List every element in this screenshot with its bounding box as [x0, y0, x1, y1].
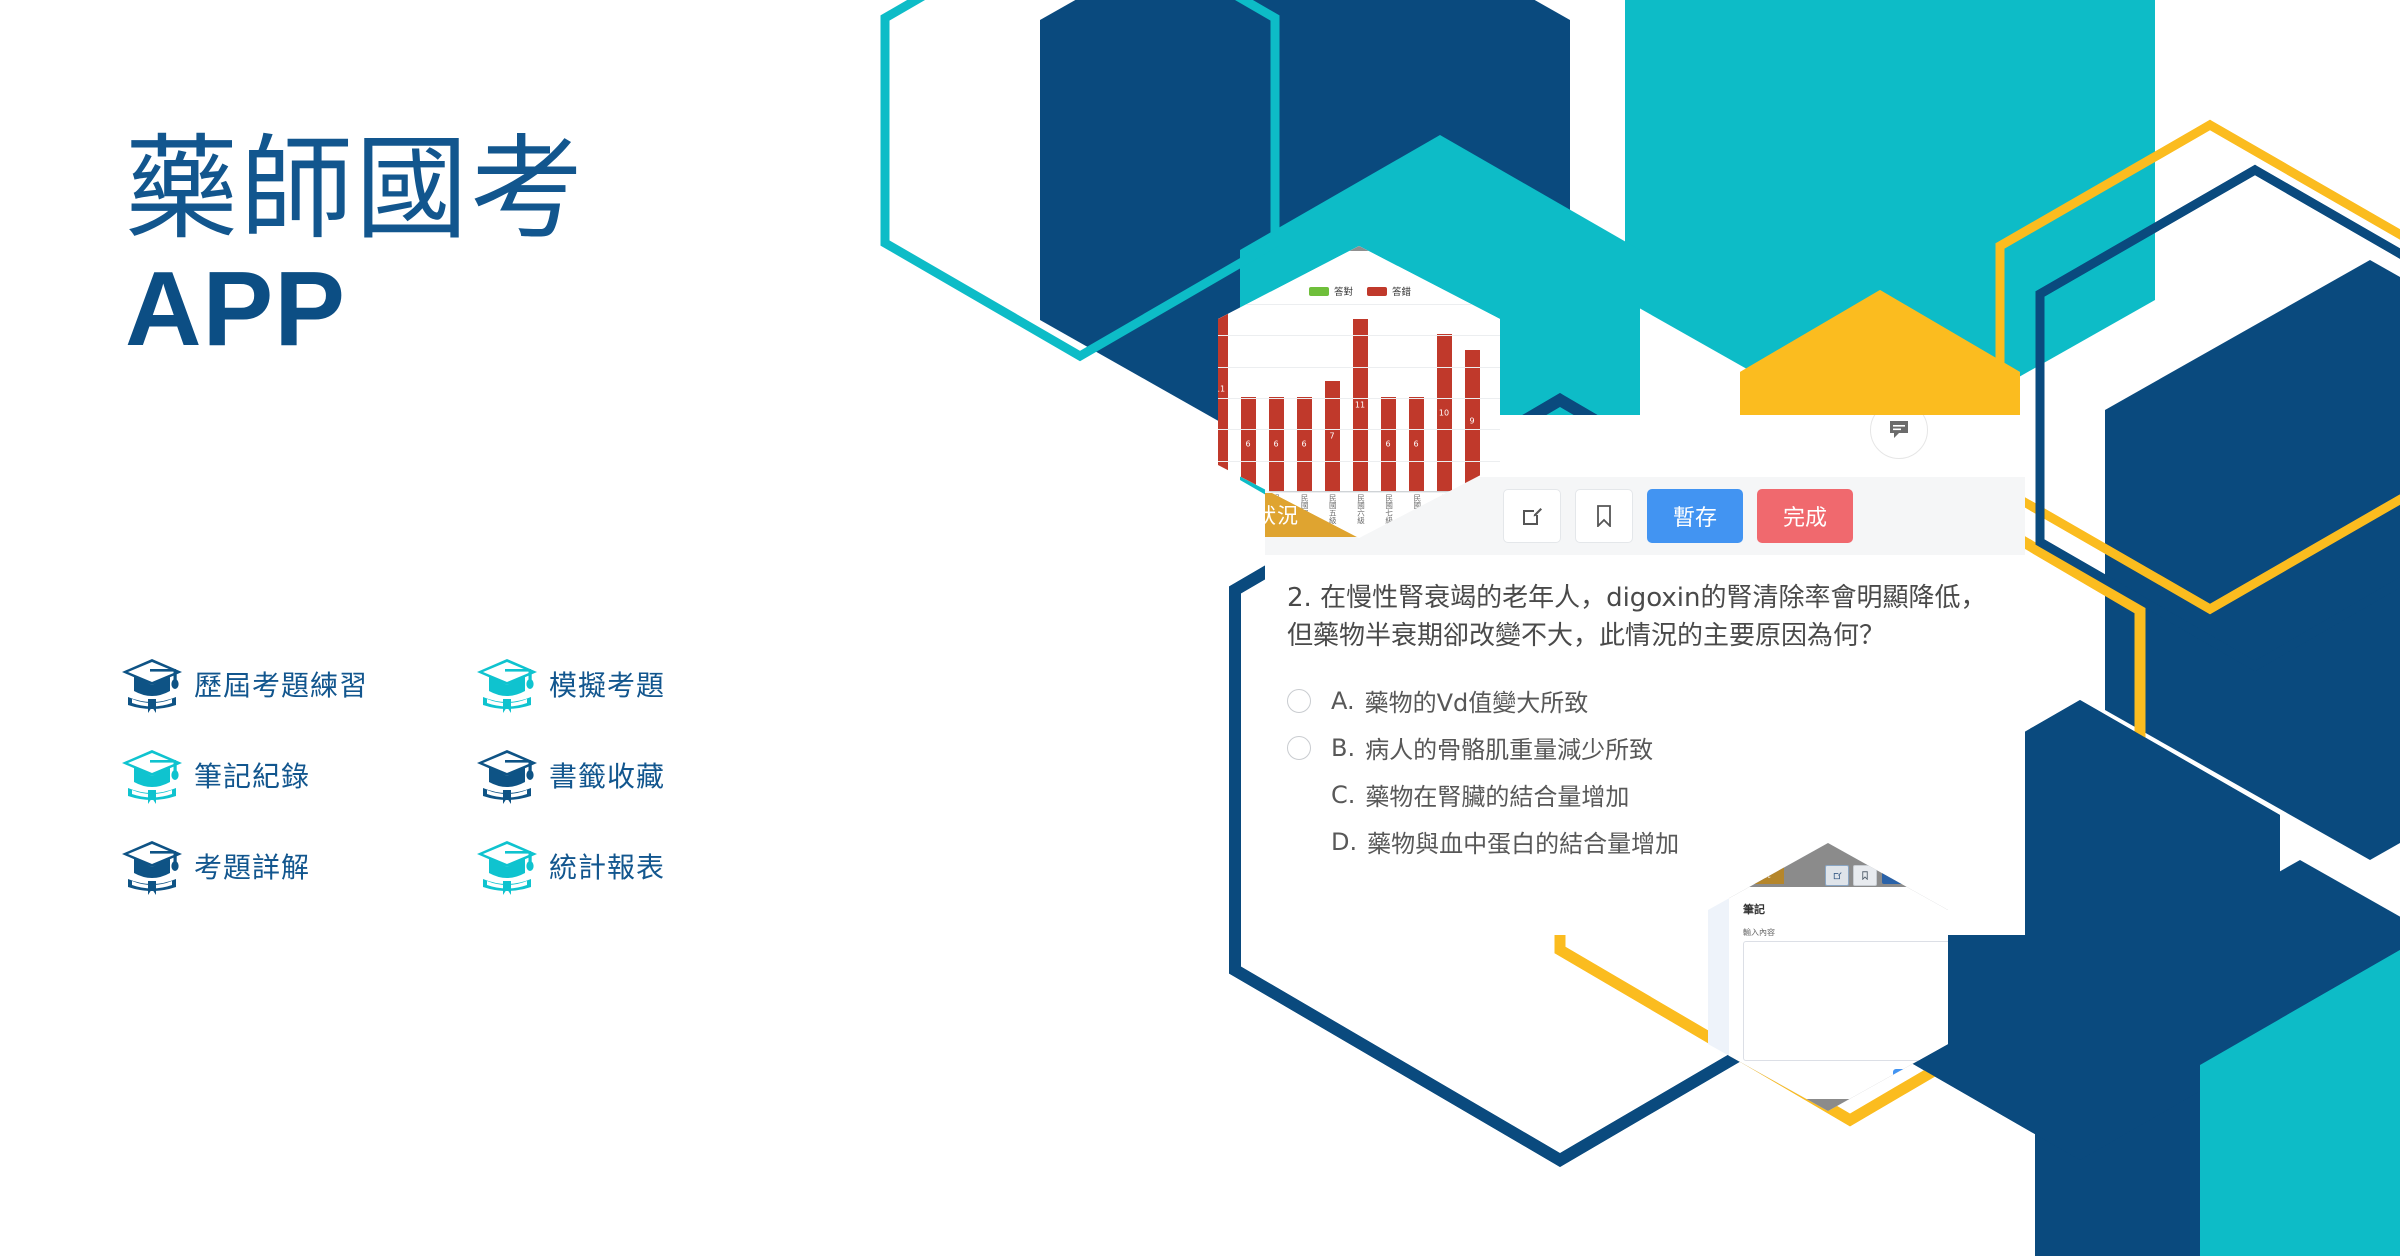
feature-item-bookmarks: 書籤收藏	[475, 746, 665, 804]
note-field-label: 輸入內容	[1743, 927, 1775, 938]
legend-item-wrong: 答錯	[1367, 284, 1411, 298]
note-textarea[interactable]	[1743, 941, 1948, 1061]
question-text: 2. 在慢性腎衰竭的老年人，digoxin的腎清除率會明顯降低，但藥物半衰期卻改…	[1287, 579, 1987, 656]
option-label: 藥物與血中蛋白的結合量增加	[1367, 824, 1679, 859]
feature-item-mock-exam: 模擬考題	[475, 655, 665, 713]
page-subtitle: APP	[125, 256, 585, 362]
bar-segment-wrong: 6	[1269, 397, 1284, 491]
chart-bar: 9	[1465, 350, 1480, 491]
bookmark-icon	[1596, 505, 1612, 527]
bar-segment-wrong: 11	[1353, 319, 1368, 491]
graduation-cap-icon	[120, 655, 184, 713]
bar-value-label: 7	[1325, 432, 1340, 441]
option-key: B.	[1331, 734, 1355, 762]
bar-segment-wrong: 10	[1437, 334, 1452, 491]
note-button[interactable]	[1503, 489, 1561, 543]
radio-icon[interactable]	[1287, 736, 1311, 760]
chart-bar: 6	[1381, 397, 1396, 491]
bar-value-label: 9	[1465, 416, 1480, 425]
toolbar-buttons: 暫存 完成	[1503, 489, 1853, 543]
chat-bubble-button[interactable]	[1870, 415, 1928, 459]
page-title: 藥師國考	[125, 128, 585, 250]
feature-label: 書籤收藏	[549, 755, 665, 795]
grid-line	[1218, 429, 1500, 430]
bar-segment-wrong: 6	[1409, 397, 1424, 491]
feature-label: 筆記紀錄	[194, 755, 310, 795]
note-dialog-title: 筆記	[1743, 901, 1765, 917]
x-tick-label: 民國六級	[1355, 494, 1366, 538]
chart-bar: 6	[1241, 397, 1256, 491]
save-draft-button[interactable]: 暫存	[1647, 489, 1743, 543]
grid-line	[1218, 335, 1500, 336]
chart-bar: 6	[1409, 397, 1424, 491]
option-key: C.	[1331, 781, 1355, 809]
note-button[interactable]	[1825, 865, 1849, 886]
feature-row: 考題詳解 統計報表	[120, 837, 760, 895]
graduation-cap-icon	[475, 655, 539, 713]
chart-bar: 6	[1269, 397, 1284, 491]
graduation-cap-icon	[120, 746, 184, 804]
graduation-cap-icon	[475, 746, 539, 804]
feature-row: 筆記紀錄 書籤收藏	[120, 746, 760, 804]
legend-item-correct: 答對	[1309, 284, 1353, 298]
poster-canvas: 藥師國考 APP 歷屆考題練習	[0, 0, 2400, 1256]
option-d[interactable]: D. 藥物與血中蛋白的結合量增加	[1287, 818, 1987, 865]
graduation-cap-icon	[120, 837, 184, 895]
feature-item-past-exams: 歷屆考題練習	[120, 655, 475, 713]
bar-segment-wrong: 6	[1381, 397, 1396, 491]
feature-label: 模擬考題	[549, 664, 665, 704]
edit-note-icon	[1521, 505, 1543, 527]
grid-line	[1218, 461, 1500, 462]
option-key: D.	[1331, 828, 1357, 856]
bookmark-button[interactable]	[1575, 489, 1633, 543]
option-key: A.	[1331, 687, 1355, 715]
grid-line	[1218, 304, 1500, 305]
feature-item-statistics: 統計報表	[475, 837, 665, 895]
option-label: 藥物在腎臟的結合量增加	[1365, 777, 1629, 812]
option-list: A. 藥物的Vd值變大所致 B. 病人的骨骼肌重量減少所致 C. 藥物在腎臟的結…	[1287, 677, 1987, 865]
left-branding-panel: 藥師國考 APP 歷屆考題練習	[0, 0, 860, 1256]
grid-line	[1218, 367, 1500, 368]
feature-list: 歷屆考題練習 模擬考題	[120, 655, 760, 928]
chart-bar: 10	[1437, 334, 1452, 491]
option-label: 藥物的Vd值變大所致	[1365, 683, 1589, 718]
chat-bubble-icon	[1888, 420, 1910, 440]
feature-label: 考題詳解	[194, 846, 310, 886]
bar-segment-wrong: 6	[1297, 397, 1312, 491]
bar-value-label: 6	[1269, 440, 1284, 449]
bar-value-label: 6	[1241, 440, 1256, 449]
option-b[interactable]: B. 病人的骨骼肌重量減少所致	[1287, 724, 1987, 771]
brand-block: 藥師國考 APP	[125, 128, 585, 362]
question-body: 2. 在慢性腎衰竭的老年人，digoxin的腎清除率會明顯降低，但藥物半衰期卻改…	[1265, 555, 2025, 935]
finish-button[interactable]: 完成	[1757, 489, 1853, 543]
graduation-cap-icon	[475, 837, 539, 895]
feature-label: 統計報表	[549, 846, 665, 886]
edit-note-icon	[1833, 871, 1842, 880]
legend-label: 答對	[1334, 284, 1353, 298]
chart-bar: 11	[1353, 319, 1368, 491]
bar-value-label: 6	[1297, 440, 1312, 449]
option-a[interactable]: A. 藥物的Vd值變大所致	[1287, 677, 1987, 724]
chart-plot-area: 111666711661091 024681012	[1218, 304, 1500, 492]
chart-bar: 6	[1297, 397, 1312, 491]
bar-value-label: 11	[1353, 400, 1368, 409]
legend-swatch-wrong	[1367, 287, 1387, 296]
feature-item-notes: 筆記紀錄	[120, 746, 475, 804]
option-label: 病人的骨骼肌重量減少所致	[1365, 730, 1653, 765]
bar-segment-wrong: 9	[1465, 350, 1480, 491]
feature-row: 歷屆考題練習 模擬考題	[120, 655, 760, 713]
option-c[interactable]: C. 藥物在腎臟的結合量增加	[1287, 771, 1987, 818]
radio-icon[interactable]	[1287, 689, 1311, 713]
bookmark-icon	[1862, 871, 1868, 880]
chart-bar: 111	[1218, 303, 1228, 491]
feature-item-explanations: 考題詳解	[120, 837, 475, 895]
grid-line	[1218, 398, 1500, 399]
legend-label: 答錯	[1392, 284, 1411, 298]
bar-value-label: 10	[1437, 408, 1452, 417]
bar-segment-wrong: 11	[1218, 303, 1228, 475]
bar-segment-wrong: 6	[1241, 397, 1256, 491]
bar-value-label: 11	[1218, 385, 1228, 394]
bar-value-label: 6	[1409, 440, 1424, 449]
bar-value-label: 6	[1381, 440, 1396, 449]
feature-label: 歷屆考題練習	[194, 664, 368, 704]
legend-swatch-correct	[1309, 287, 1329, 296]
